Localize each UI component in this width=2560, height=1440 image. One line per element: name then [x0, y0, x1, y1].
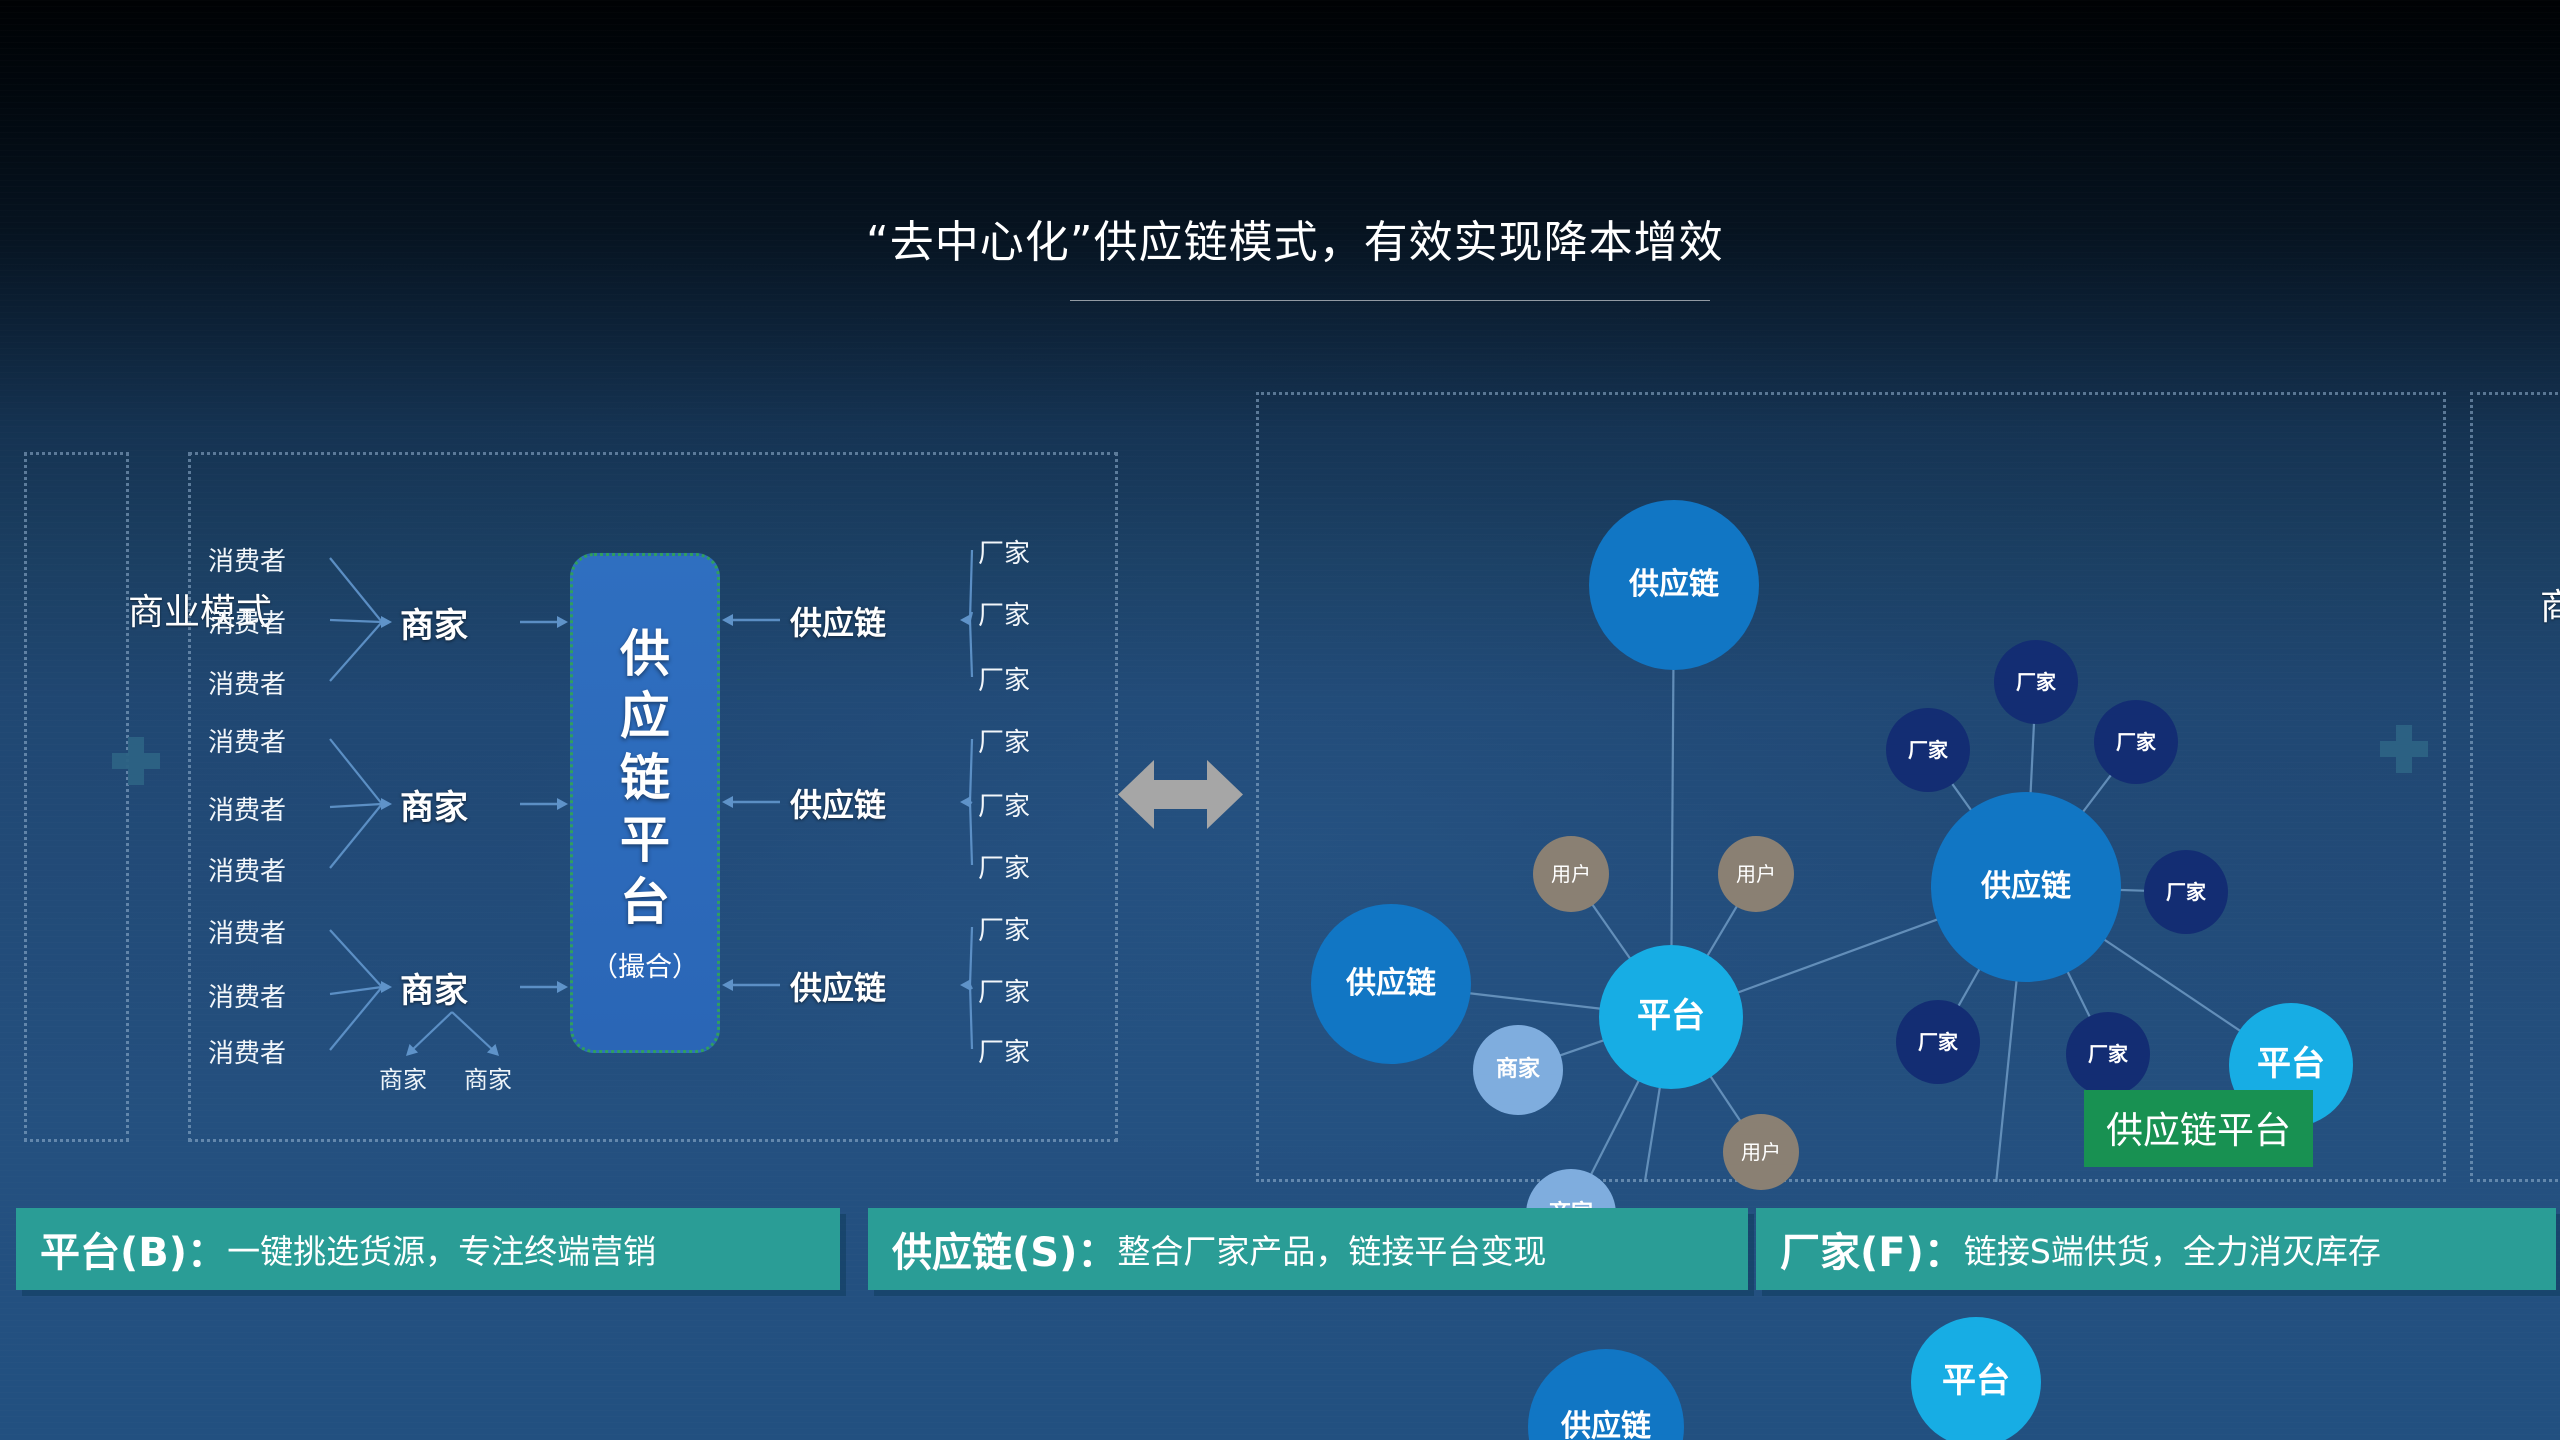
consumer-label: 消费者 — [208, 664, 286, 701]
network-node-label: 厂家 — [2166, 882, 2206, 903]
network-node-label: 厂家 — [1918, 1032, 1958, 1053]
network-node-chain: 供应链 — [1931, 792, 2121, 982]
network-link — [1464, 993, 1605, 1010]
network-node-label: 商家 — [1496, 1058, 1540, 1081]
banner-supply-chain-strong: 供应链(S)： — [892, 1220, 1117, 1278]
chain-label: 供应链 — [790, 963, 886, 1009]
factory-label: 厂家 — [978, 595, 1030, 632]
factory-label: 厂家 — [978, 786, 1030, 823]
merchant-label: 商家 — [400, 598, 468, 647]
network-link — [1705, 904, 1738, 960]
decentralized-network-diagram: 供应链供应链供应链供应链平台平台平台用户用户用户商家商家厂家厂家厂家厂家厂家厂家 — [1256, 392, 2446, 1182]
consumer-label: 消费者 — [208, 722, 286, 759]
network-node-chain: 供应链 — [1311, 904, 1471, 1064]
network-node-label: 平台 — [1942, 1364, 2010, 1400]
banner-supply-chain: 供应链(S)： 整合厂家产品，链接平台变现 — [868, 1208, 1748, 1290]
network-link — [1590, 1076, 1641, 1177]
network-link — [1617, 1082, 1660, 1182]
consumer-label: 消费者 — [208, 790, 286, 827]
network-node-label: 供应链 — [1629, 569, 1719, 601]
banner-factory-strong: 厂家(F)： — [1780, 1220, 1964, 1278]
platform-box-main-label: 供应链平台 — [620, 623, 670, 933]
network-node-label: 供应链 — [1346, 968, 1436, 1000]
consumer-label: 消费者 — [208, 541, 286, 578]
factory-label: 厂家 — [978, 722, 1030, 759]
network-node-label: 供应链 — [1561, 1411, 1651, 1440]
network-link — [2065, 965, 2091, 1019]
factory-label: 厂家 — [978, 660, 1030, 697]
chain-label: 供应链 — [790, 598, 886, 644]
network-link — [1671, 663, 1673, 951]
network-node-label: 用户 — [1741, 1142, 1781, 1163]
network-node-factory: 厂家 — [1994, 640, 2078, 724]
section-label-right-cut: 商 — [2540, 578, 2560, 630]
network-node-label: 用户 — [1551, 864, 1591, 885]
banner-factory: 厂家(F)： 链接S端供货，全力消灭库存 — [1756, 1208, 2556, 1290]
network-node-factory: 厂家 — [1896, 1000, 1980, 1084]
network-link — [1733, 917, 1944, 994]
sub-merchant-label: 商家 — [379, 1060, 427, 1095]
network-node-user: 用户 — [1533, 836, 1609, 912]
network-node-chain: 供应链 — [1589, 500, 1759, 670]
slide-canvas: “去中心化”供应链模式，有效实现降本增效 商业模式 商 消费者消费者消费者消费者… — [0, 0, 2560, 1440]
banner-factory-rest: 链接S端供货，全力消灭库存 — [1964, 1225, 2381, 1273]
network-link — [1557, 1039, 1608, 1057]
network-node-label: 厂家 — [2116, 732, 2156, 753]
network-link — [1982, 974, 2017, 1182]
consumer-label: 消费者 — [208, 977, 286, 1014]
network-node-platform: 平台 — [1599, 945, 1743, 1089]
network-node-user: 用户 — [1718, 836, 1794, 912]
dotted-panel-far-right — [2470, 392, 2560, 1182]
network-link — [1591, 903, 1633, 963]
network-node-label: 厂家 — [1908, 740, 1948, 761]
banner-platform-strong: 平台(B)： — [40, 1220, 227, 1278]
network-node-factory: 厂家 — [1886, 708, 1970, 792]
merchant-label: 商家 — [400, 780, 468, 829]
factory-label: 厂家 — [978, 533, 1030, 570]
network-node-label: 供应链 — [1981, 871, 2071, 903]
supply-chain-platform-tag: 供应链平台 — [2084, 1090, 2313, 1167]
merchant-label: 商家 — [400, 963, 468, 1012]
banner-platform-rest: 一键挑选货源，专注终端营销 — [227, 1225, 656, 1273]
network-node-merchant: 商家 — [1473, 1025, 1563, 1115]
bidirectional-arrow-icon — [1118, 752, 1243, 837]
supply-chain-platform-box: 供应链平台 （撮合） — [570, 553, 720, 1053]
factory-label: 厂家 — [978, 910, 1030, 947]
network-node-factory: 厂家 — [2144, 850, 2228, 934]
consumer-label: 消费者 — [208, 603, 286, 640]
network-link — [2079, 773, 2113, 818]
sub-merchant-label: 商家 — [464, 1060, 512, 1095]
network-node-label: 厂家 — [2088, 1044, 2128, 1065]
chain-label: 供应链 — [790, 780, 886, 826]
network-node-factory: 厂家 — [2066, 1012, 2150, 1096]
network-node-label: 厂家 — [2016, 672, 2056, 693]
banner-platform: 平台(B)： 一键挑选货源，专注终端营销 — [16, 1208, 840, 1290]
network-node-label: 平台 — [2257, 1047, 2325, 1083]
banner-supply-chain-rest: 整合厂家产品，链接平台变现 — [1117, 1225, 1546, 1273]
network-node-label: 用户 — [1736, 864, 1776, 885]
factory-label: 厂家 — [978, 1032, 1030, 1069]
network-node-user: 用户 — [1723, 1114, 1799, 1190]
platform-box-sub-label: （撮合） — [591, 945, 699, 984]
factory-label: 厂家 — [978, 848, 1030, 885]
network-node-factory: 厂家 — [2094, 700, 2178, 784]
consumer-label: 消费者 — [208, 851, 286, 888]
factory-label: 厂家 — [978, 972, 1030, 1009]
consumer-label: 消费者 — [208, 1033, 286, 1070]
network-node-label: 平台 — [1637, 999, 1705, 1035]
network-link — [1708, 1072, 1742, 1123]
network-link — [2030, 721, 2034, 800]
network-node-platform: 平台 — [1911, 1317, 2041, 1440]
consumer-label: 消费者 — [208, 913, 286, 950]
